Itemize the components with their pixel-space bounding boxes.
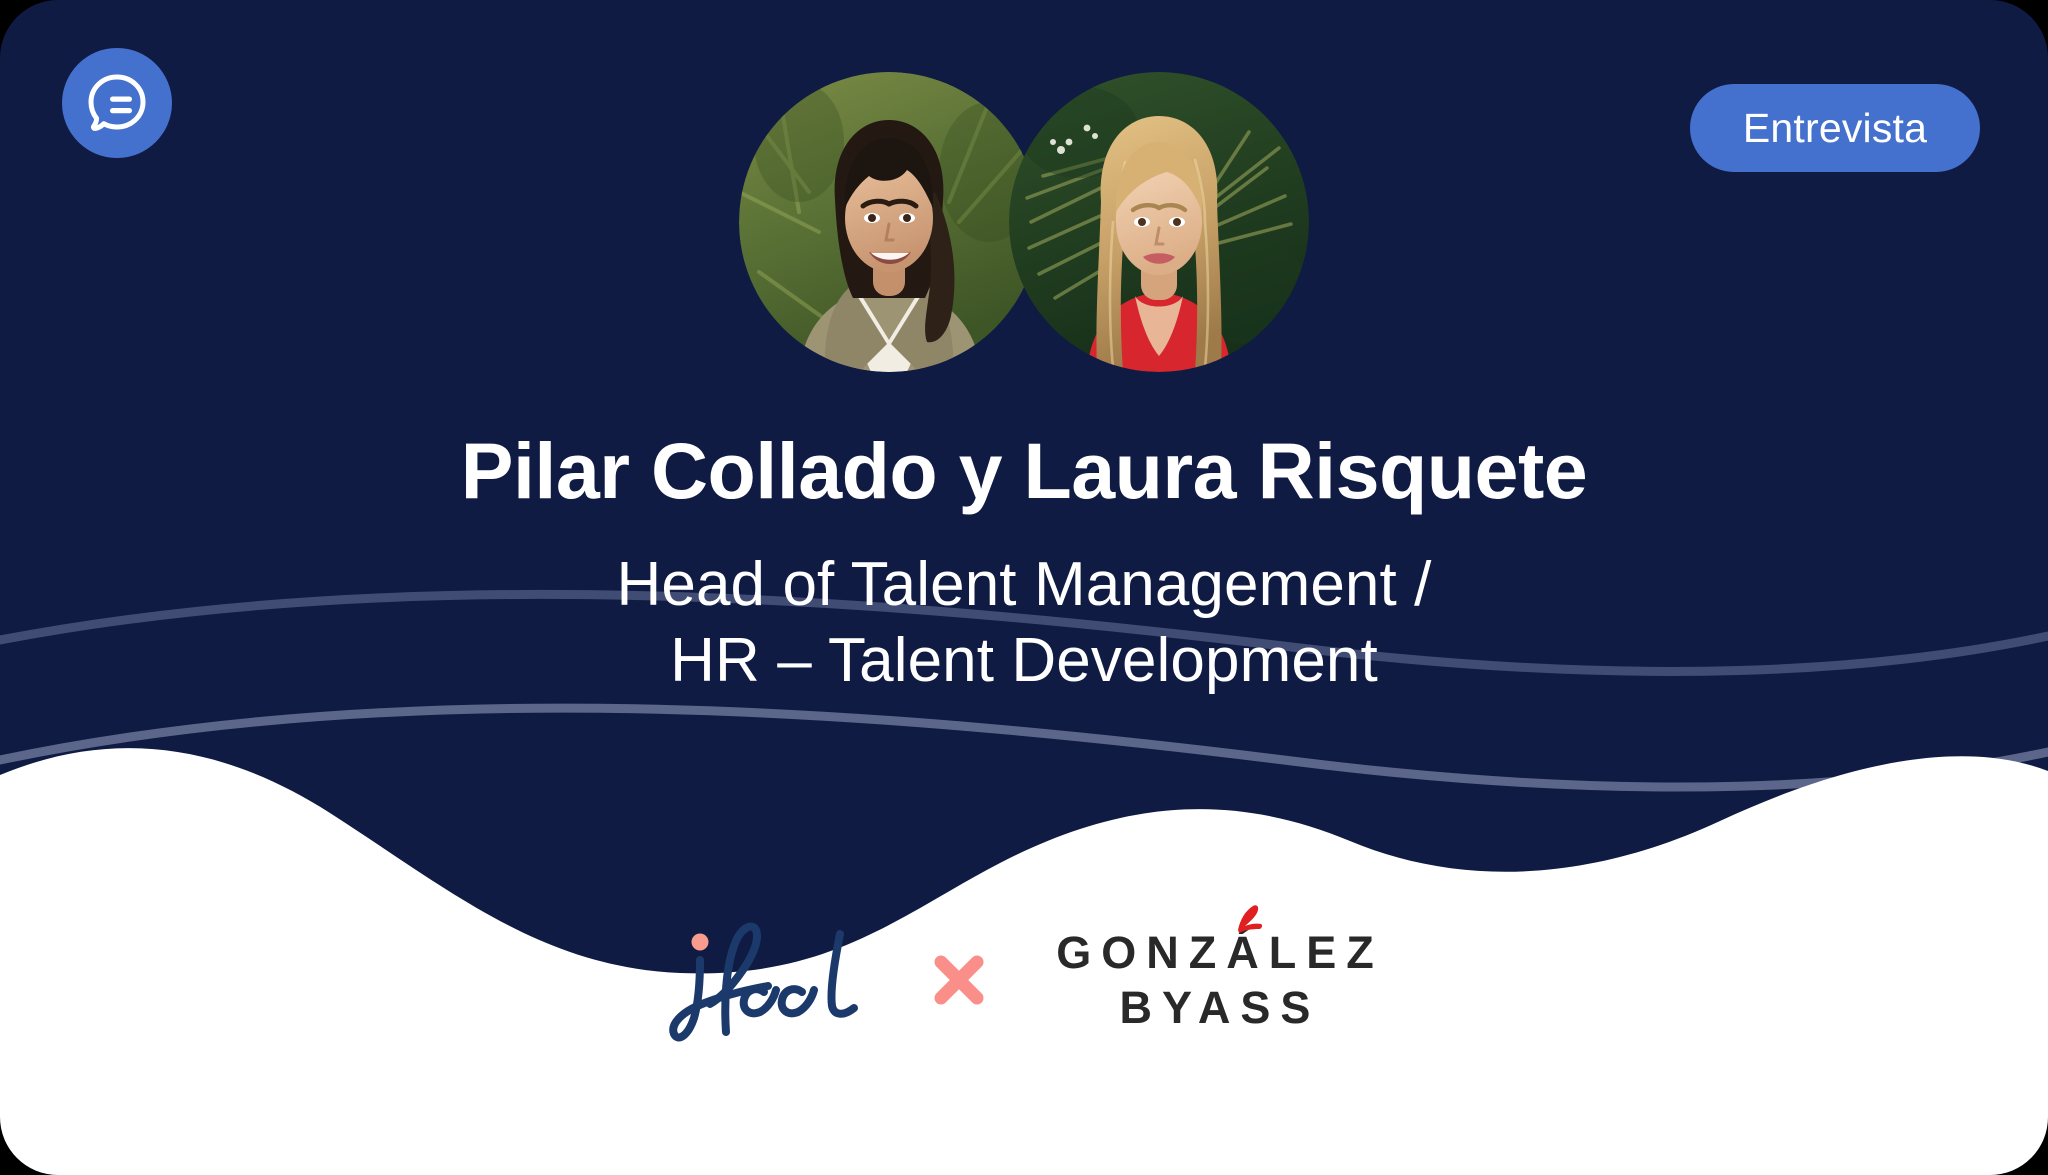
entrevista-badge-label: Entrevista <box>1743 105 1927 152</box>
text-block: Pilar Collado y Laura Risquete Head of T… <box>0 430 2048 698</box>
accent-brushstroke-icon <box>1230 904 1264 934</box>
gonzalez-text: GONZÁLEZ <box>1056 927 1383 978</box>
gonzalez-byass-line-1: GONZÁLEZ <box>1046 930 1383 975</box>
ifeel-dot-icon <box>692 934 709 951</box>
gonzalez-byass-logo: GONZÁLEZ BYASS <box>1046 930 1383 1030</box>
ifeel-logo <box>664 912 872 1047</box>
x-separator-icon <box>928 949 990 1011</box>
role-line-2: HR – Talent Development <box>0 623 2048 699</box>
logo-row: GONZÁLEZ BYASS <box>0 912 2048 1047</box>
chat-bubble-icon <box>85 71 149 135</box>
portrait-laura-risquete <box>1009 72 1309 372</box>
entrevista-badge[interactable]: Entrevista <box>1690 84 1980 172</box>
portrait-pilar-collado <box>739 72 1039 372</box>
portrait-group <box>739 72 1309 382</box>
page-title: Pilar Collado y Laura Risquete <box>0 430 2048 513</box>
chat-bubble-badge[interactable] <box>62 48 172 158</box>
gonzalez-byass-line-2: BYASS <box>1110 985 1321 1030</box>
role-line-1: Head of Talent Management / <box>0 547 2048 623</box>
interview-card: Entrevista <box>0 0 2048 1175</box>
